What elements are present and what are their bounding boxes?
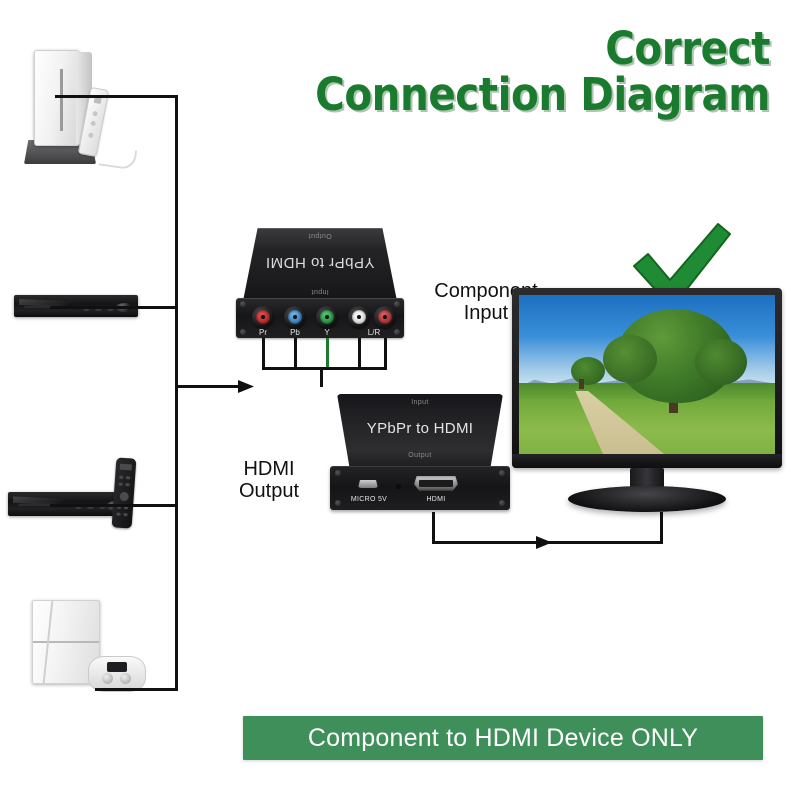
- arrow-to-converter-icon: [238, 378, 258, 396]
- rca-jack-audio-r: [374, 306, 396, 328]
- micro-usb-port-label: MICRO 5V: [344, 496, 394, 503]
- wire-branch-dvd-2: [50, 504, 178, 507]
- title-line-2: Connection Diagram: [300, 72, 770, 118]
- wii-remote-button-b: [90, 121, 96, 127]
- remote-button: [116, 513, 120, 516]
- wii-console-body: [34, 50, 80, 146]
- converter-bottom-input-marking: Input: [330, 399, 510, 406]
- rca-jack-audio-l: [348, 306, 370, 328]
- screw-icon: [499, 470, 505, 476]
- television: [512, 288, 782, 528]
- wire-audio-r: [384, 338, 387, 370]
- remote-dpad: [119, 492, 129, 502]
- screen-small-tree-trunk: [579, 379, 584, 389]
- rca-label-y: Y: [312, 328, 342, 337]
- ps4-controller: [88, 656, 146, 692]
- rca-jack-pb: [284, 306, 306, 328]
- page-title: Correct Connection Diagram: [300, 26, 770, 118]
- remote-button: [125, 483, 129, 486]
- rca-label-audio-lr: L/R: [356, 328, 392, 337]
- remote-button: [123, 513, 127, 516]
- wire-branch-dvd-1: [50, 306, 178, 309]
- converter-bottom-hdmi-output: Input YPbPr to HDMI Output MICRO 5V HDMI: [330, 394, 510, 514]
- wire-pr: [262, 338, 265, 370]
- remote-control: [112, 457, 137, 528]
- wire-y: [326, 338, 329, 370]
- tv-stand-base: [568, 486, 726, 512]
- wii-remote-strap: [99, 146, 137, 171]
- hdmi-output-label-line2: Output: [214, 480, 324, 502]
- converter-top-port-face: Pr Pb Y L/R: [236, 298, 404, 338]
- wii-disc-slot: [60, 69, 63, 131]
- screw-icon: [394, 301, 400, 307]
- converter-bottom-brand-label: YPbPr to HDMI: [330, 420, 510, 437]
- rca-jack-y: [316, 306, 338, 328]
- tv-bottom-bezel: [512, 454, 782, 468]
- wire-bus-to-component: [175, 385, 245, 388]
- screw-icon: [335, 500, 341, 506]
- status-led: [396, 484, 401, 489]
- screw-icon: [335, 470, 341, 476]
- screw-icon: [240, 329, 246, 335]
- bottom-banner-text: Component to HDMI Device ONLY: [308, 724, 698, 753]
- arrow-to-tv-icon: [536, 534, 556, 552]
- hdmi-output-label-line1: HDMI: [214, 458, 324, 480]
- source-device-wii: [14, 40, 134, 165]
- ps4-touchpad: [107, 662, 127, 672]
- remote-button: [126, 476, 130, 479]
- wii-remote-button-home: [88, 132, 94, 138]
- ps4-seam: [33, 641, 99, 643]
- title-line-1: Correct: [300, 26, 770, 72]
- wire-branch-wii: [55, 95, 178, 98]
- rca-label-pr: Pr: [248, 328, 278, 337]
- rca-jack-pr: [252, 306, 274, 328]
- wire-vertical-bus: [175, 95, 178, 690]
- wire-hdmi-drop: [432, 512, 435, 544]
- converter-top-brand-label: YPbPr to HDMI: [236, 254, 404, 271]
- wire-audio-l: [358, 338, 361, 370]
- ps4-right-stick: [120, 673, 131, 684]
- source-device-ps4: [26, 600, 146, 696]
- wire-pb: [294, 338, 297, 370]
- rca-label-pb: Pb: [280, 328, 310, 337]
- screen-small-tree: [571, 357, 605, 385]
- ps4-left-stick: [102, 673, 113, 684]
- remote-button: [119, 476, 123, 479]
- tv-screen: [519, 295, 775, 461]
- diagram-canvas: Correct Connection Diagram: [0, 0, 800, 800]
- bottom-banner: Component to HDMI Device ONLY: [243, 716, 763, 760]
- converter-top-output-marking: Output: [236, 232, 404, 239]
- wire-component-bundle: [262, 367, 387, 370]
- wire-bundle-drop: [320, 367, 323, 387]
- screen-tree-canopy: [617, 309, 735, 403]
- hdmi-port: [414, 476, 458, 491]
- micro-usb-port: [358, 480, 378, 488]
- converter-bottom-port-face: MICRO 5V HDMI: [330, 466, 510, 510]
- hdmi-output-label: HDMI Output: [214, 458, 324, 503]
- wii-remote-button-a: [92, 111, 98, 117]
- converter-bottom-output-marking: Output: [330, 452, 510, 459]
- wire-branch-ps4: [95, 688, 178, 691]
- hdmi-port-label: HDMI: [414, 496, 458, 503]
- remote-screen: [120, 464, 132, 471]
- remote-button: [119, 483, 123, 486]
- screw-icon: [240, 301, 246, 307]
- converter-top-component-input: Output YPbPr to HDMI Input Pr Pb Y L/R: [236, 228, 404, 340]
- screw-icon: [394, 329, 400, 335]
- converter-top-input-marking: Input: [236, 288, 404, 295]
- screw-icon: [499, 500, 505, 506]
